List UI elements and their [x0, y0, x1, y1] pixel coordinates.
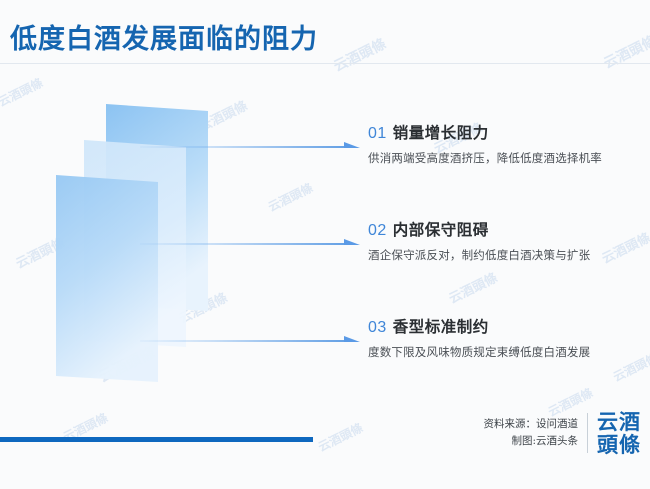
arrow-head-icon [344, 142, 360, 148]
arrow-line [140, 340, 344, 342]
item-heading: 02内部保守阻碍 [368, 221, 590, 241]
item-heading: 03香型标准制约 [368, 318, 590, 338]
panel-front [56, 175, 158, 382]
arrow-head-icon [344, 336, 360, 342]
arrow-line [140, 243, 344, 245]
item-description: 供消两端受高度酒挤压，降低低度酒选择机率 [368, 151, 602, 167]
arrow-connector-2 [140, 239, 360, 249]
item-description: 酒企保守派反对，制约低度白酒决策与扩张 [368, 248, 590, 264]
item-title: 内部保守阻碍 [393, 222, 489, 239]
infographic-canvas: 低度白酒发展面临的阻力 01销量增长阻力 供消两端受高度酒挤压，降低低度酒选择机… [0, 0, 650, 489]
item-title: 香型标准制约 [393, 319, 489, 336]
footer-source-line: 资料来源：设问酒道 [484, 416, 579, 433]
item-02: 02内部保守阻碍 酒企保守派反对，制约低度白酒决策与扩张 [368, 221, 590, 264]
item-03: 03香型标准制约 度数下限及风味物质规定束缚低度白酒发展 [368, 318, 590, 361]
arrow-connector-3 [140, 336, 360, 346]
item-number: 01 [368, 125, 387, 142]
arrow-line [140, 146, 344, 148]
logo-char-2: 酒 [619, 410, 640, 433]
footer-source-block: 资料来源：设问酒道 制图:云酒头条 [484, 416, 588, 450]
arrow-head-icon [344, 239, 360, 245]
item-description: 度数下限及风味物质规定束缚低度白酒发展 [368, 345, 590, 361]
item-number: 03 [368, 319, 387, 336]
bottom-accent-bar [0, 437, 313, 442]
footer-credit-line: 制图:云酒头条 [484, 433, 579, 450]
item-heading: 01销量增长阻力 [368, 124, 602, 144]
title-divider [0, 63, 650, 64]
logo-char-1: 云 [597, 410, 618, 433]
page-title: 低度白酒发展面临的阻力 [10, 17, 318, 56]
footer: 资料来源：设问酒道 制图:云酒头条 云 酒 頭 條 [484, 410, 641, 456]
item-number: 02 [368, 222, 387, 239]
item-01: 01销量增长阻力 供消两端受高度酒挤压，降低低度酒选择机率 [368, 124, 602, 167]
logo-char-3: 頭 [597, 433, 618, 456]
brand-logo: 云 酒 頭 條 [588, 410, 640, 456]
logo-char-4: 條 [619, 433, 640, 456]
arrow-connector-1 [140, 142, 360, 152]
item-title: 销量增长阻力 [393, 125, 489, 142]
